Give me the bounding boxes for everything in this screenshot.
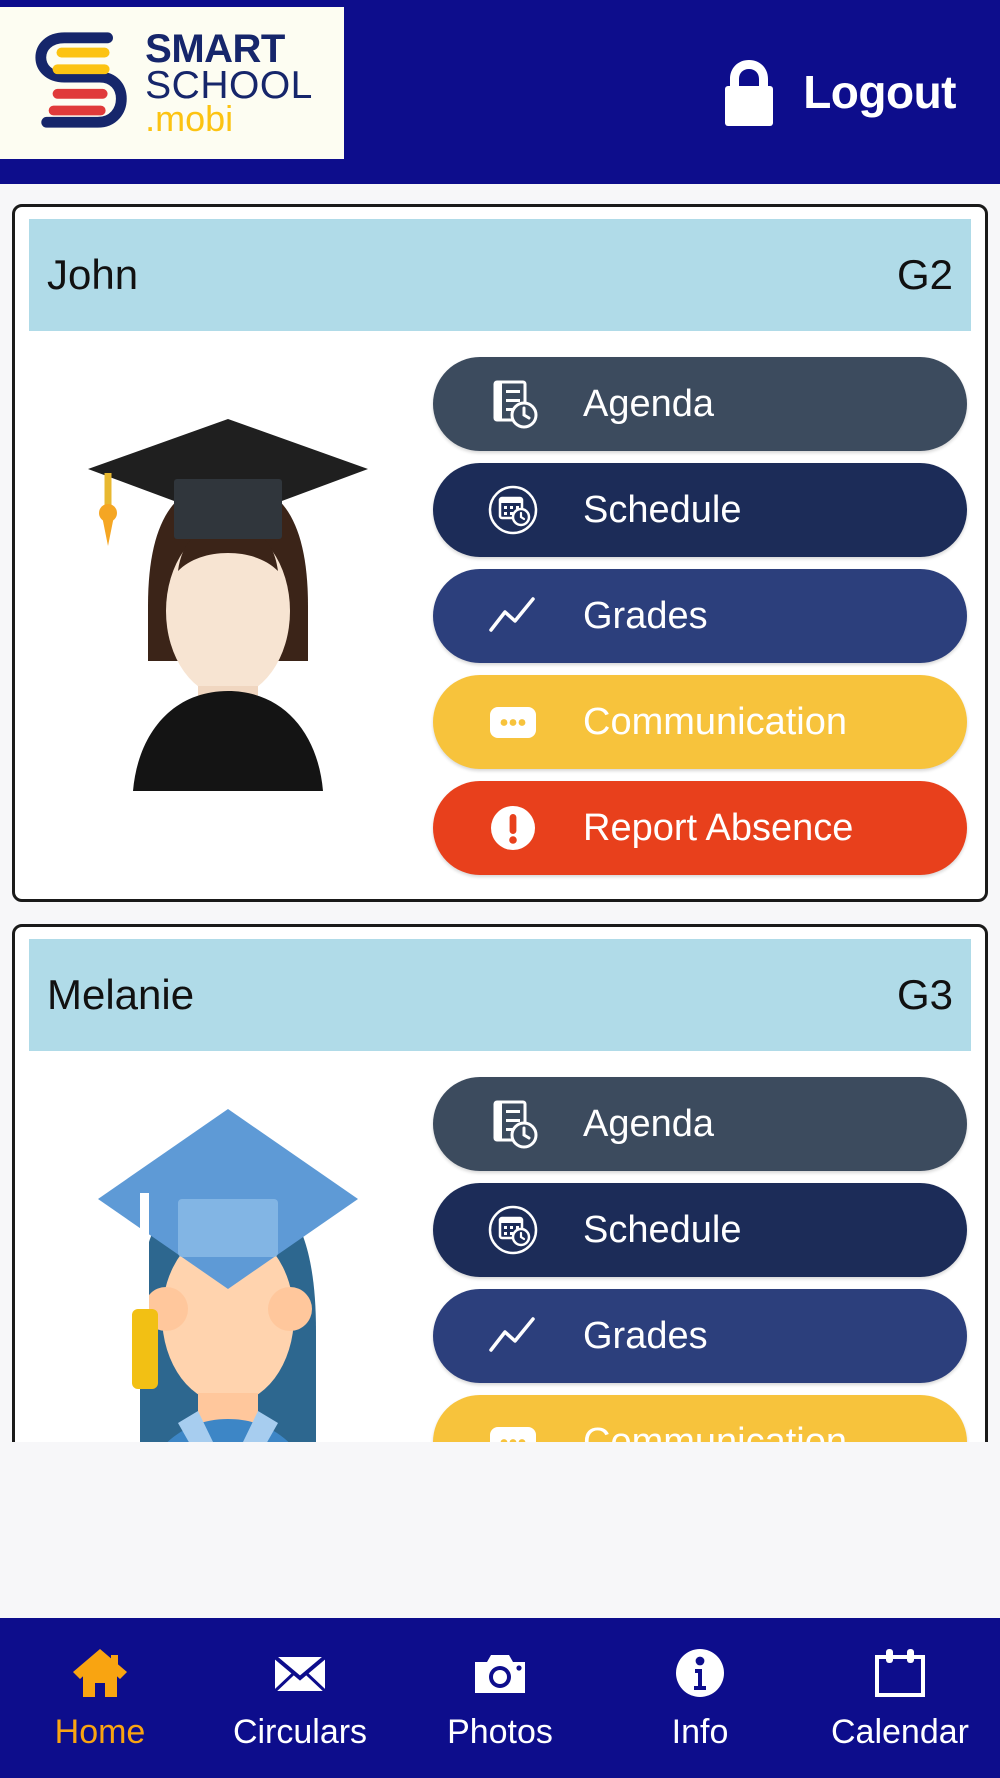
lock-icon: [717, 56, 781, 128]
top-header-bar: SMART SCHOOL .mobi Logout: [0, 0, 1000, 184]
male-graduate-avatar-icon: [78, 361, 378, 791]
agenda-clock-icon: [487, 1098, 539, 1150]
action-label: Agenda: [583, 383, 714, 426]
bottom-navigation-bar: Home Circulars Photos Info: [0, 1618, 1000, 1778]
communication-button[interactable]: Communication: [433, 675, 967, 769]
exclamation-circle-icon: [487, 802, 539, 854]
info-circle-icon: [671, 1645, 729, 1701]
student-avatar: [33, 347, 423, 875]
chat-dots-icon: [487, 696, 539, 748]
nav-label: Info: [672, 1713, 729, 1752]
schedule-button[interactable]: Schedule: [433, 463, 967, 557]
action-label: Schedule: [583, 1209, 741, 1252]
student-card-header: Melanie G3: [29, 939, 971, 1051]
calendar-clock-circle-icon: [487, 484, 539, 536]
nav-label: Calendar: [831, 1713, 969, 1752]
action-label: Agenda: [583, 1103, 714, 1146]
logo-line-smart: SMART: [145, 29, 313, 69]
female-graduate-avatar-icon: [78, 1081, 378, 1442]
action-label: Grades: [583, 1315, 708, 1358]
students-scroll-area[interactable]: John G2: [0, 184, 1000, 1442]
nav-label: Photos: [447, 1713, 553, 1752]
grades-button[interactable]: Grades: [433, 569, 967, 663]
agenda-clock-icon: [487, 378, 539, 430]
nav-item-info[interactable]: Info: [600, 1618, 800, 1778]
calendar-icon: [871, 1645, 929, 1701]
nav-item-photos[interactable]: Photos: [400, 1618, 600, 1778]
agenda-button[interactable]: Agenda: [433, 1077, 967, 1171]
action-label: Communication: [583, 701, 847, 744]
student-actions: Agenda Schedule: [433, 347, 967, 875]
line-chart-icon: [487, 590, 539, 642]
logout-label: Logout: [803, 65, 956, 119]
student-card: Melanie G3: [12, 924, 988, 1442]
home-icon: [71, 1645, 129, 1701]
nav-item-calendar[interactable]: Calendar: [800, 1618, 1000, 1778]
student-actions: Agenda Schedule: [433, 1067, 967, 1442]
camera-icon: [471, 1645, 529, 1701]
action-label: Grades: [583, 595, 708, 638]
nav-label: Circulars: [233, 1713, 367, 1752]
smartschool-s-book-logo-icon: [31, 24, 139, 142]
action-label: Report Absence: [583, 807, 853, 850]
app-logo: SMART SCHOOL .mobi: [0, 7, 344, 159]
report-absence-button[interactable]: Report Absence: [433, 781, 967, 875]
calendar-clock-circle-icon: [487, 1204, 539, 1256]
student-card-header: John G2: [29, 219, 971, 331]
grades-button[interactable]: Grades: [433, 1289, 967, 1383]
schedule-button[interactable]: Schedule: [433, 1183, 967, 1277]
communication-button[interactable]: Communication: [433, 1395, 967, 1442]
envelope-icon: [271, 1645, 329, 1701]
student-avatar: [33, 1067, 423, 1442]
chat-dots-icon: [487, 1416, 539, 1442]
agenda-button[interactable]: Agenda: [433, 357, 967, 451]
nav-item-home[interactable]: Home: [0, 1618, 200, 1778]
nav-item-circulars[interactable]: Circulars: [200, 1618, 400, 1778]
student-card: John G2: [12, 204, 988, 902]
student-grade: G2: [897, 251, 953, 299]
action-label: Schedule: [583, 489, 741, 532]
student-name: Melanie: [47, 971, 194, 1019]
line-chart-icon: [487, 1310, 539, 1362]
logout-button[interactable]: Logout: [717, 0, 956, 184]
student-name: John: [47, 251, 138, 299]
action-label: Communication: [583, 1421, 847, 1443]
student-grade: G3: [897, 971, 953, 1019]
nav-label: Home: [55, 1713, 146, 1752]
